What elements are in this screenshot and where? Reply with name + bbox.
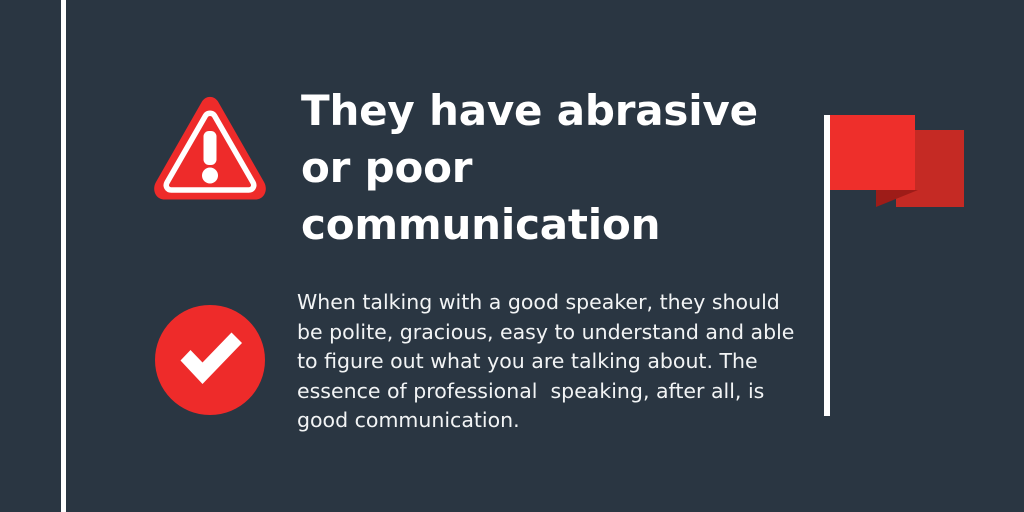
flag-front-panel <box>830 115 915 190</box>
warning-triangle-icon <box>152 96 268 202</box>
exclamation-bar <box>204 131 217 165</box>
exclamation-dot <box>202 168 218 184</box>
left-accent-rule <box>61 0 66 512</box>
body-paragraph: When talking with a good speaker, they s… <box>297 288 797 436</box>
page-title: They have abrasive or poor communication <box>301 82 801 253</box>
check-circle-icon <box>155 305 265 415</box>
red-flag-graphic <box>820 110 970 415</box>
slide-canvas: They have abrasive or poor communication… <box>0 0 1024 512</box>
flag-fold-triangle <box>876 190 918 207</box>
